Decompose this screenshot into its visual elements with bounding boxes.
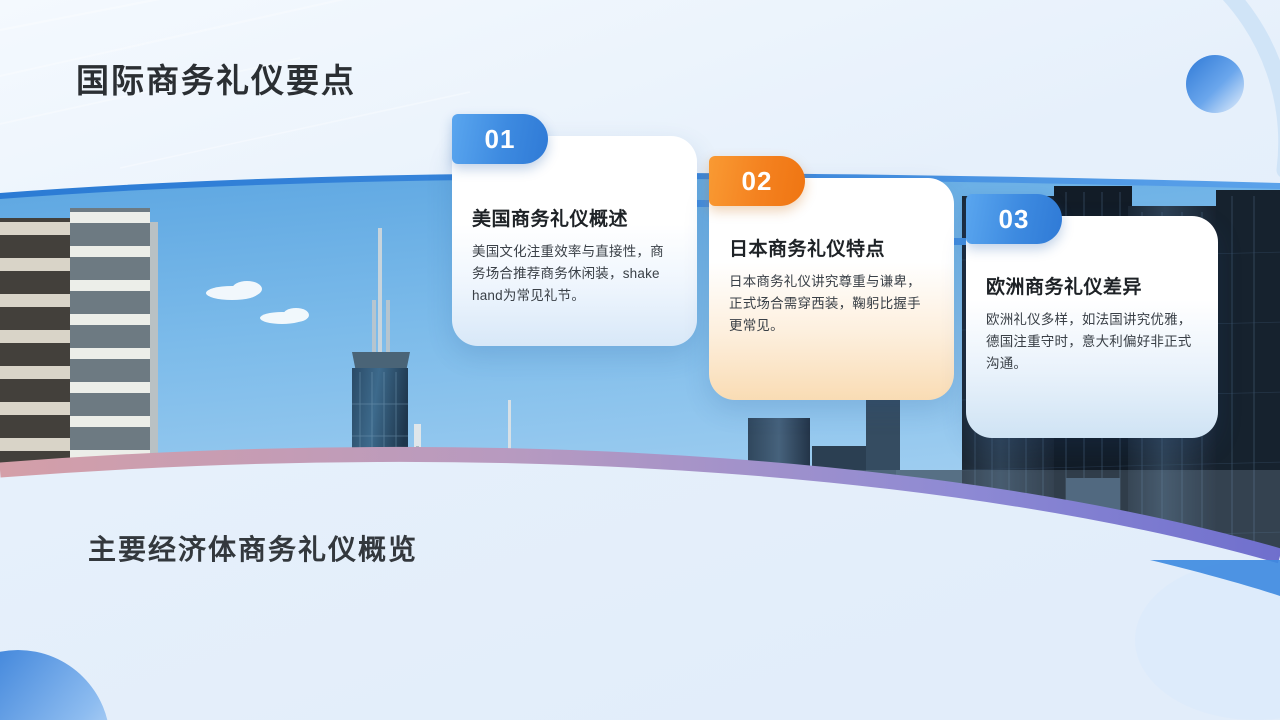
card-body-03: 欧洲礼仪多样，如法国讲究优雅，德国注重守时，意大利偏好非正式沟通。 xyxy=(986,309,1198,375)
card-content: 日本商务礼仪特点 日本商务礼仪讲究尊重与谦卑，正式场合需穿西装，鞠躬比握手更常见… xyxy=(709,178,954,400)
card-content: 欧洲商务礼仪差异 欧洲礼仪多样，如法国讲究优雅，德国注重守时，意大利偏好非正式沟… xyxy=(966,216,1218,438)
card-heading-01: 美国商务礼仪概述 xyxy=(472,204,677,231)
info-card-01[interactable]: 01 美国商务礼仪概述 美国文化注重效率与直接性，商务场合推荐商务休闲装，sha… xyxy=(452,136,697,346)
card-body-01: 美国文化注重效率与直接性，商务场合推荐商务休闲装，shake hand为常见礼节… xyxy=(472,241,677,307)
page-title: 国际商务礼仪要点 xyxy=(76,54,356,102)
info-card-02[interactable]: 02 日本商务礼仪特点 日本商务礼仪讲究尊重与谦卑，正式场合需穿西装，鞠躬比握手… xyxy=(709,178,954,400)
card-heading-03: 欧洲商务礼仪差异 xyxy=(986,272,1198,299)
card-body-02: 日本商务礼仪讲究尊重与谦卑，正式场合需穿西装，鞠躬比握手更常见。 xyxy=(729,271,934,337)
info-card-03[interactable]: 03 欧洲商务礼仪差异 欧洲礼仪多样，如法国讲究优雅，德国注重守时，意大利偏好非… xyxy=(966,216,1218,438)
card-content: 美国商务礼仪概述 美国文化注重效率与直接性，商务场合推荐商务休闲装，shake … xyxy=(452,136,697,346)
band-corner-accent xyxy=(1150,560,1280,596)
page-subtitle: 主要经济体商务礼仪概览 xyxy=(88,528,418,568)
card-heading-02: 日本商务礼仪特点 xyxy=(729,234,934,261)
slide-root: 国际商务礼仪要点 主要经济体商务礼仪概览 01 美国商务礼仪概述 美国文化注重效… xyxy=(0,0,1280,720)
